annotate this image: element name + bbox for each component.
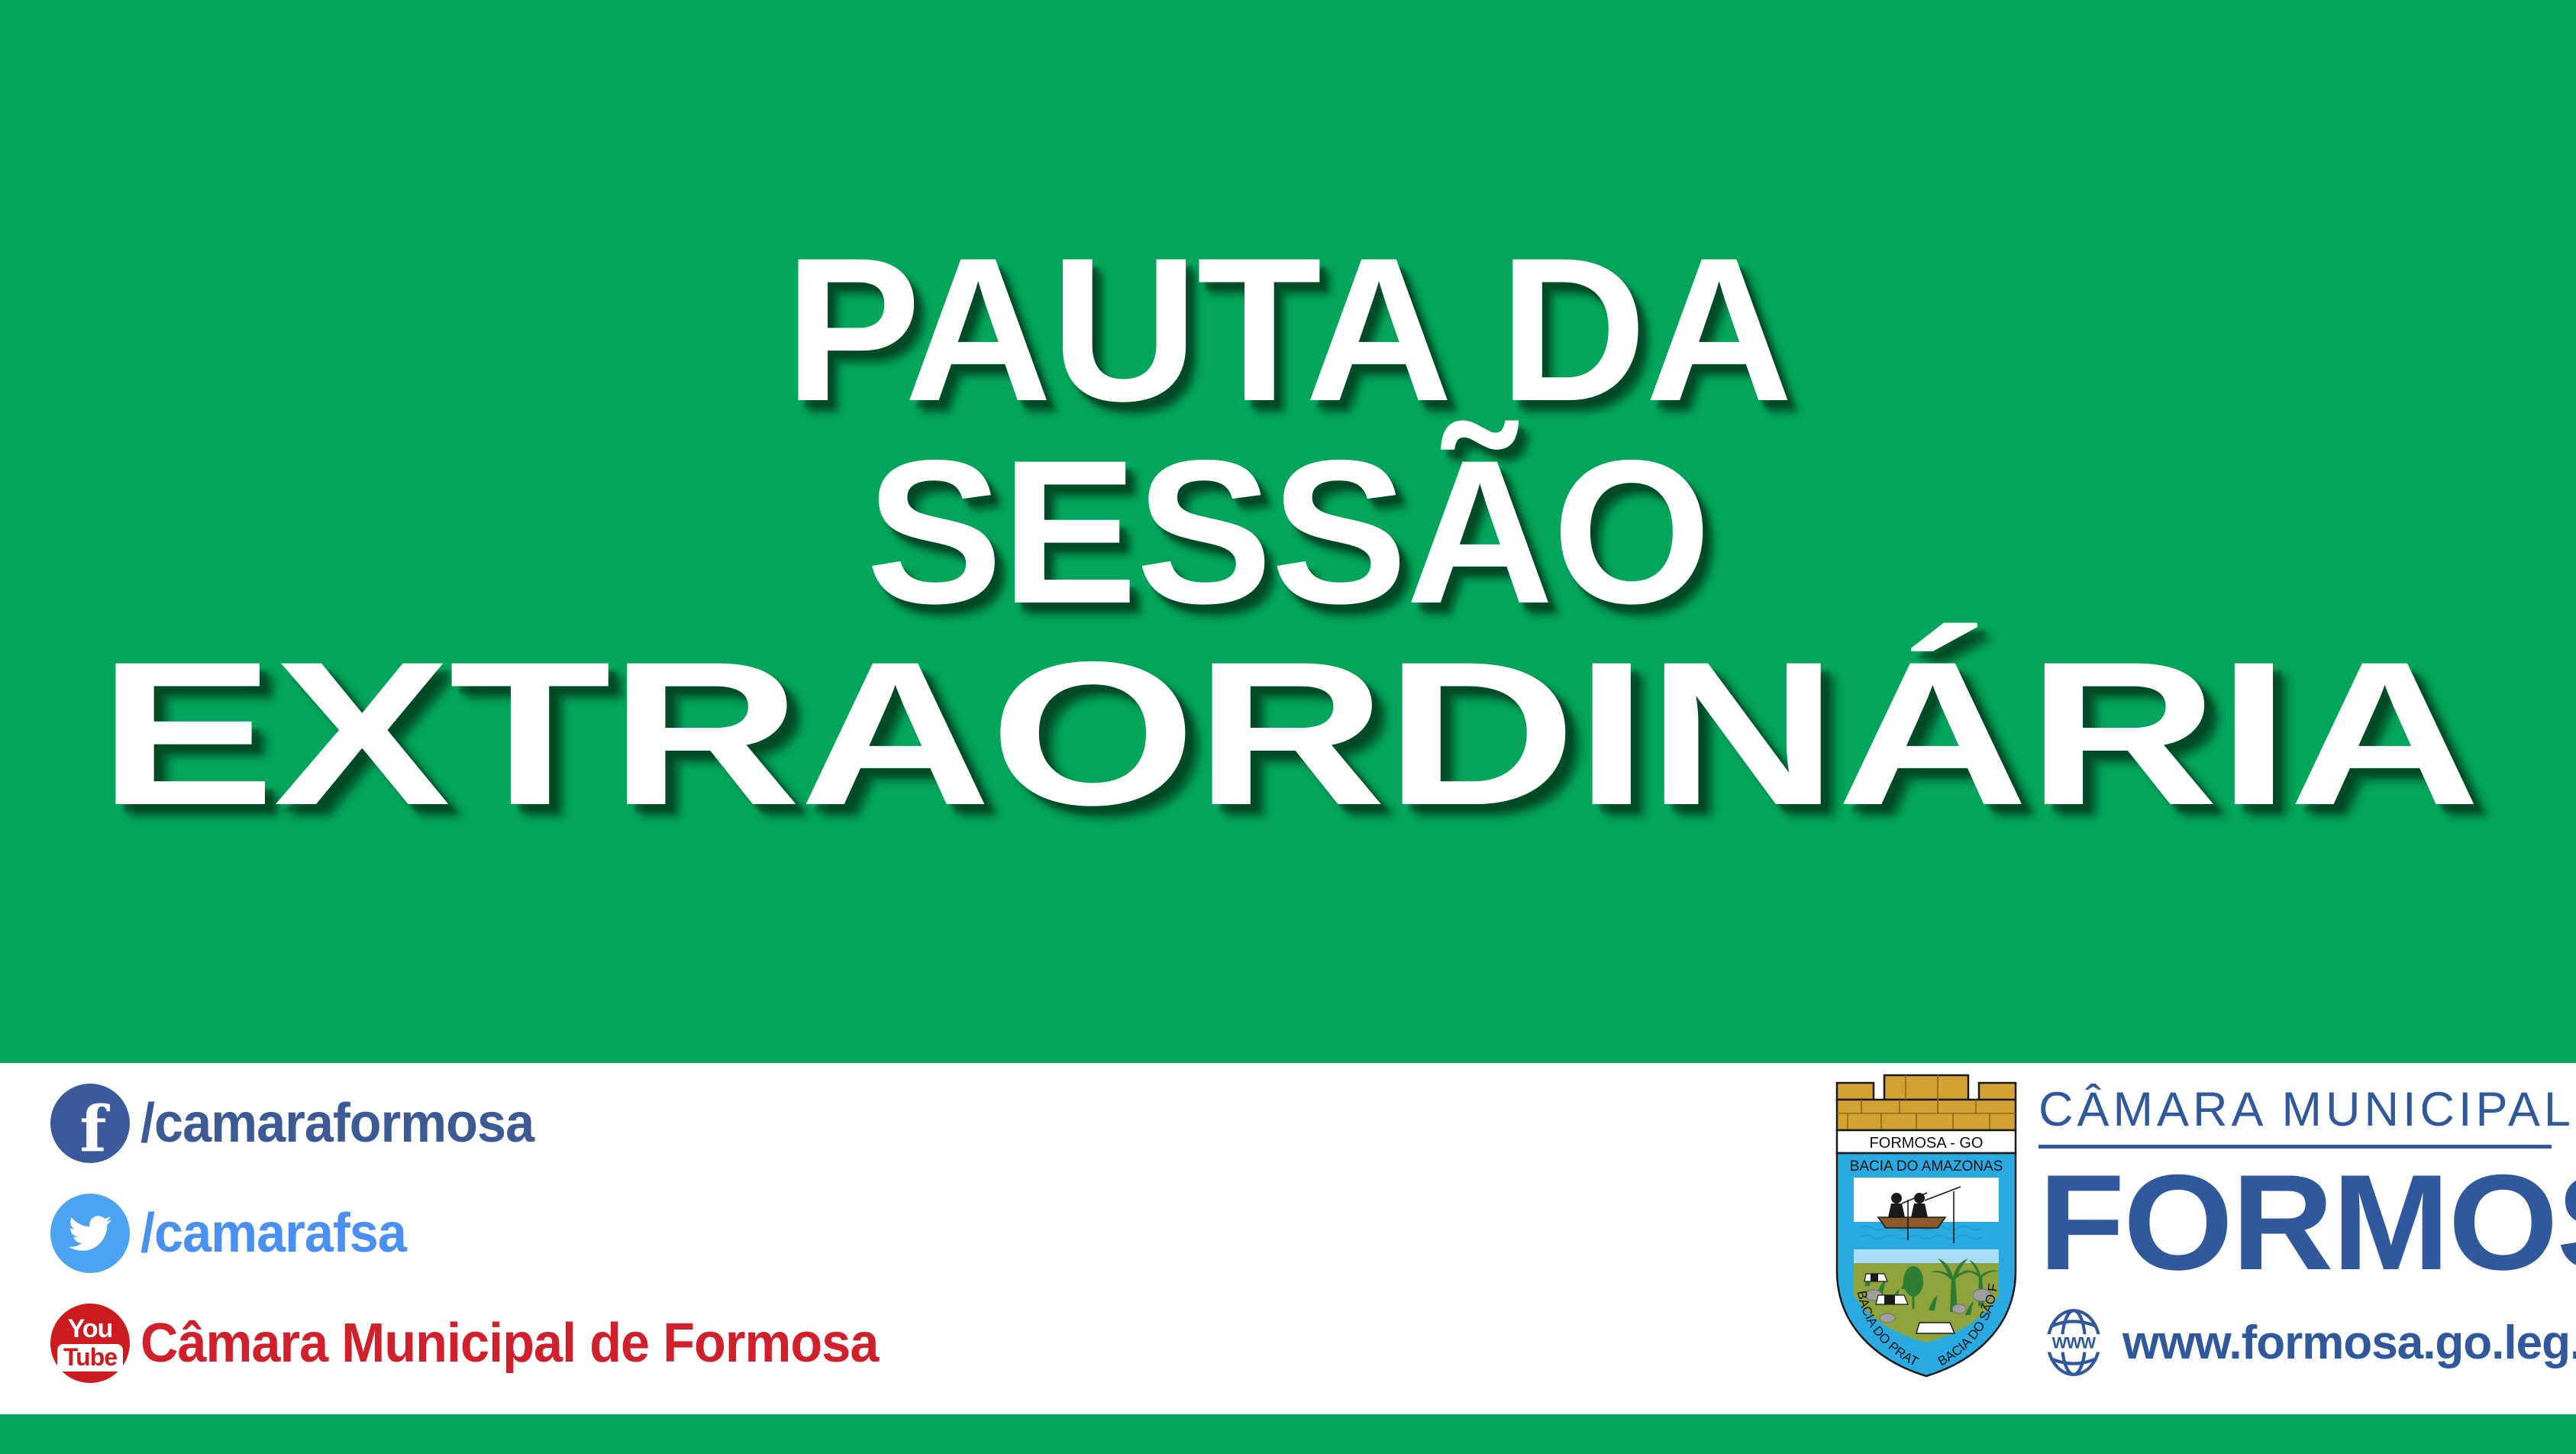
formosa-coat-of-arms: FORMOSA - GO BACIA DO AMAZONAS — [1831, 1066, 2022, 1387]
youtube-icon[interactable]: You Tube — [50, 1304, 130, 1383]
facebook-handle: /camaraformosa — [140, 1092, 534, 1155]
social-link-youtube[interactable]: You Tube Câmara Municipal de Formosa — [50, 1298, 1196, 1388]
youtube-word-tube: Tube — [57, 1344, 123, 1372]
brand-subtitle: CÂMARA MUNICIPAL — [2039, 1086, 2565, 1134]
poster-root: PAUTA DA SESSÃO EXTRAORDINÁRIA f /camara… — [0, 0, 2576, 1454]
facebook-f-glyph: f — [79, 1098, 106, 1161]
footer-bar: f /camaraformosa /camarafsa You Tu — [0, 1063, 2576, 1414]
facebook-icon[interactable]: f — [50, 1084, 130, 1163]
www-globe-icon: WWW — [2042, 1307, 2106, 1378]
youtube-channel-name: Câmara Municipal de Formosa — [140, 1312, 878, 1375]
twitter-handle: /camarafsa — [140, 1202, 406, 1265]
brand-wordmark: CÂMARA MUNICIPAL FORMOSA WWW — [2039, 1086, 2565, 1378]
page-title-line-1: PAUTA DA — [785, 229, 1792, 430]
hero-banner: PAUTA DA SESSÃO EXTRAORDINÁRIA — [0, 0, 2576, 1063]
crest-city-label: FORMOSA - GO — [1870, 1135, 1984, 1152]
brand-website-url[interactable]: www.formosa.go.leg.br — [2122, 1316, 2576, 1370]
page-title-line-3: EXTRAORDINÁRIA — [98, 633, 2479, 834]
crest-label-amazonas: BACIA DO AMAZONAS — [1850, 1158, 2003, 1175]
bottom-accent-strip — [0, 1414, 2576, 1454]
globe-www-text: WWW — [2052, 1335, 2097, 1352]
twitter-icon[interactable] — [50, 1194, 130, 1273]
page-title-line-2: SESSÃO — [866, 431, 1709, 632]
social-link-facebook[interactable]: f /camaraformosa — [50, 1078, 1196, 1168]
social-link-twitter[interactable]: /camarafsa — [50, 1188, 1196, 1278]
brand-title: FORMOSA — [2039, 1155, 2576, 1291]
brand-website-row[interactable]: WWW www.formosa.go.leg.br — [2039, 1307, 2565, 1378]
youtube-wordmark: You Tube — [57, 1316, 123, 1372]
youtube-word-you: You — [68, 1316, 113, 1342]
social-links-list: f /camaraformosa /camarafsa You Tu — [50, 1078, 1196, 1408]
brand-logo-block: FORMOSA - GO BACIA DO AMAZONAS — [1831, 1052, 2564, 1411]
